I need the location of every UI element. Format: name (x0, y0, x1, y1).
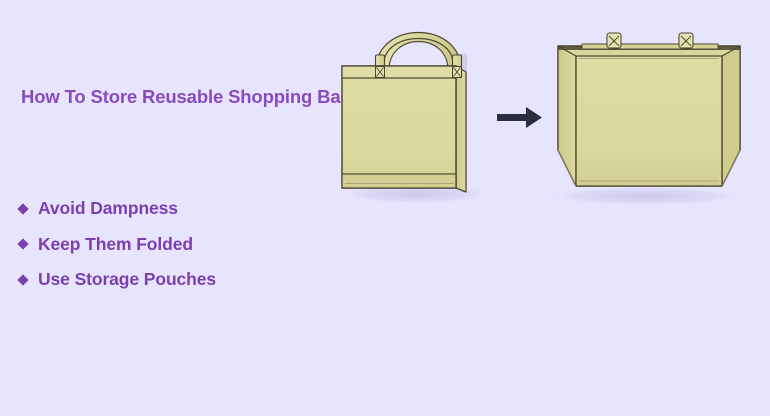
transition-arrow (497, 107, 542, 128)
left-bag-body (342, 66, 456, 188)
right-bag-handle-strap (582, 44, 718, 49)
right-bag-right-gusset (722, 46, 740, 186)
infographic-canvas: How To Store Reusable Shopping Bags Avoi… (0, 0, 770, 416)
page-title: How To Store Reusable Shopping Bags (21, 86, 321, 108)
illustration-area (330, 0, 770, 416)
bag-illustration-svg (330, 0, 770, 416)
list-item: Use Storage Pouches (0, 262, 330, 298)
left-bag-top-rim (342, 66, 456, 78)
right-bag-left-gusset (558, 46, 576, 186)
list-item-label: Use Storage Pouches (20, 269, 216, 290)
text-column: How To Store Reusable Shopping Bags Avoi… (0, 0, 330, 416)
right-bag-front-panel (576, 56, 722, 186)
left-bag-bottom-band (342, 174, 456, 188)
list-item: Keep Them Folded (0, 227, 330, 263)
right-bag-folded-tote (545, 33, 745, 206)
left-bag-side-gusset (456, 66, 466, 192)
list-item-label: Avoid Dampness (20, 198, 178, 219)
right-bag-handles (582, 44, 718, 49)
list-item: Avoid Dampness (0, 191, 330, 227)
left-bag-upright-tote (340, 33, 492, 205)
list-item-label: Keep Them Folded (20, 234, 193, 255)
right-arrow-icon (497, 107, 542, 128)
right-bag-shadow (545, 186, 745, 206)
tips-list: Avoid Dampness Keep Them Folded Use Stor… (0, 191, 330, 298)
